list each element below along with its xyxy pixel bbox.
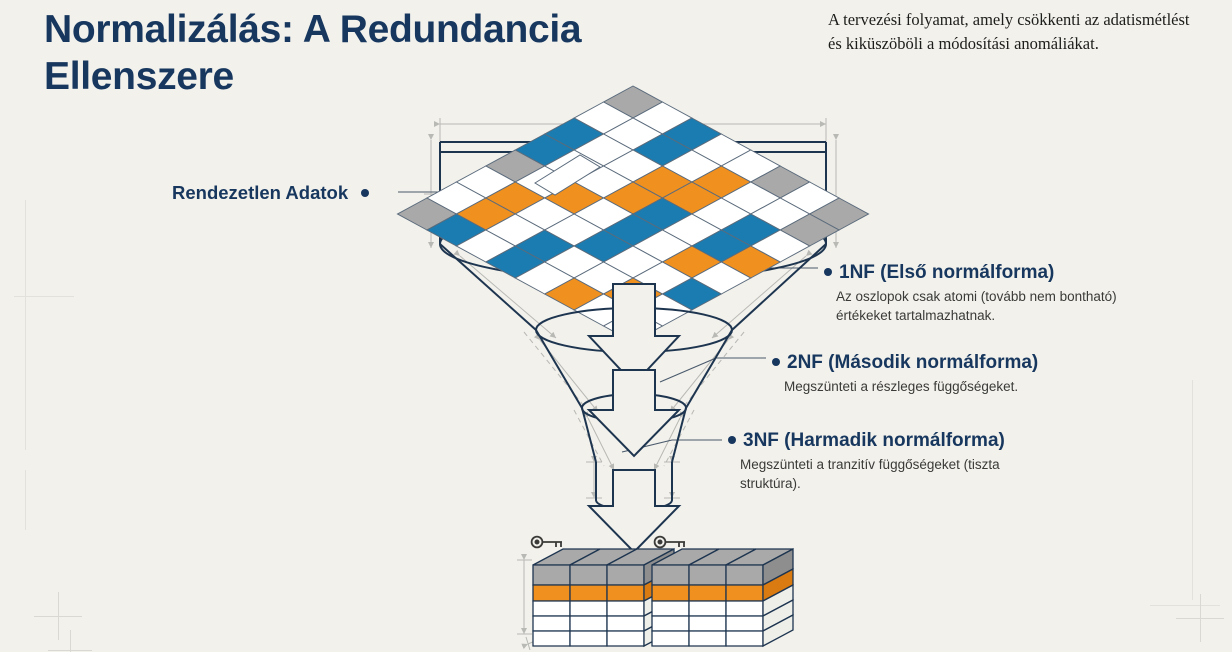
callout-bullet xyxy=(824,268,832,276)
callout-bullet xyxy=(728,436,736,444)
intro-paragraph: A tervezési folyamat, amely csökkenti az… xyxy=(828,8,1200,56)
callout-3nf-title: 3NF (Harmadik normálforma) xyxy=(728,430,1040,452)
callout-1nf-desc: Az oszlopok csak atomi (tovább nem bonth… xyxy=(836,287,1136,325)
callout-1nf-title: 1NF (Első normálforma) xyxy=(824,262,1136,284)
callout-2nf-desc: Megszünteti a részleges függőségeket. xyxy=(784,377,1038,396)
callout-1nf-title-text: 1NF (Első normálforma) xyxy=(839,262,1054,283)
input-label-bullet xyxy=(361,189,369,197)
input-label: Rendezetlen Adatok xyxy=(172,182,369,204)
callout-2nf-title: 2NF (Második normálforma) xyxy=(772,352,1038,374)
input-label-text: Rendezetlen Adatok xyxy=(172,182,348,203)
callout-3nf[interactable]: 3NF (Harmadik normálforma) Megszünteti a… xyxy=(728,430,1040,493)
callout-3nf-title-text: 3NF (Harmadik normálforma) xyxy=(743,430,1005,451)
callout-2nf-title-text: 2NF (Második normálforma) xyxy=(787,352,1038,373)
output-table-right[interactable] xyxy=(652,537,793,646)
page-title: Normalizálás: A Redundancia Ellenszere xyxy=(44,6,684,100)
infographic-canvas: Normalizálás: A Redundancia Ellenszere A… xyxy=(0,0,1232,672)
key-icon xyxy=(532,537,562,548)
callout-bullet xyxy=(772,358,780,366)
callout-3nf-desc: Megszünteti a tranzitív függőségeket (ti… xyxy=(740,455,1040,493)
flow-arrow-2 xyxy=(589,370,679,456)
normalization-funnel-diagram xyxy=(0,0,1232,672)
bottom-white-strip xyxy=(0,652,1232,672)
callout-2nf[interactable]: 2NF (Második normálforma) Megszünteti a … xyxy=(772,352,1038,396)
key-icon xyxy=(655,537,685,548)
callout-1nf[interactable]: 1NF (Első normálforma) Az oszlopok csak … xyxy=(824,262,1136,325)
